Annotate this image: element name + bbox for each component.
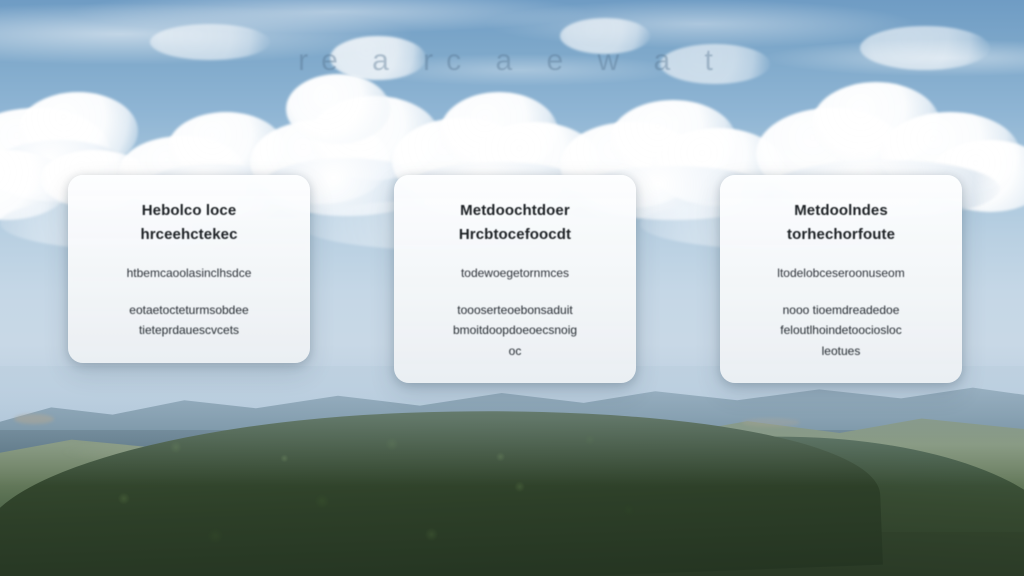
card-3-body-line-1: nooo tioemdreadedoe <box>736 300 946 321</box>
card-3-body: nooo tioemdreadedoe feloutlhoindetoocios… <box>736 300 946 362</box>
card-1-body-line-1: eotaetocteturmsobdee <box>84 300 294 321</box>
info-card-1[interactable]: Hebolco loce hrceehctekec htbemcaoolasin… <box>68 175 310 363</box>
info-card-3[interactable]: Metdoolndes torhechorfoute ltodelobceser… <box>720 175 962 383</box>
card-1-body-line-2: tieteprdauescvcets <box>84 320 294 341</box>
screenshot-root: re a rc a e w a t Hebolco loce hrceehcte… <box>0 0 1024 576</box>
landscape-layer <box>0 366 1024 576</box>
card-2-body-line-3: oc <box>410 341 620 362</box>
card-3-title-line-1: Metdoolndes <box>736 199 946 223</box>
card-1-title: Hebolco loce hrceehctekec <box>84 199 294 248</box>
card-2-title-line-2: Hrcbtocefoocdt <box>410 223 620 247</box>
card-3-body-line-3: leotues <box>736 341 946 362</box>
card-2-body-line-1: toooserteoebonsaduit <box>410 300 620 321</box>
card-2-body-line-2: bmoitdoopdoeoecsnoig <box>410 320 620 341</box>
card-2-subtitle: todewoegetornmces <box>410 264 620 282</box>
card-1-subtitle: htbemcaoolasinclhsdce <box>84 264 294 282</box>
card-2-body: toooserteoebonsaduit bmoitdoopdoeoecsnoi… <box>410 300 620 362</box>
card-row: Hebolco loce hrceehctekec htbemcaoolasin… <box>68 175 962 383</box>
card-3-subtitle: ltodelobceseroonuseom <box>736 264 946 282</box>
card-1-title-line-1: Hebolco loce <box>84 199 294 223</box>
card-2-title-line-1: Metdoochtdoer <box>410 199 620 223</box>
card-3-body-line-2: feloutlhoindetoociosloc <box>736 320 946 341</box>
card-3-title-line-2: torhechorfoute <box>736 223 946 247</box>
info-card-2[interactable]: Metdoochtdoer Hrcbtocefoocdt todewoegeto… <box>394 175 636 383</box>
card-3-title: Metdoolndes torhechorfoute <box>736 199 946 248</box>
sky-ghost-text: re a rc a e w a t <box>0 44 1024 78</box>
card-2-title: Metdoochtdoer Hrcbtocefoocdt <box>410 199 620 248</box>
card-1-title-line-2: hrceehctekec <box>84 223 294 247</box>
card-1-body: eotaetocteturmsobdee tieteprdauescvcets <box>84 300 294 341</box>
